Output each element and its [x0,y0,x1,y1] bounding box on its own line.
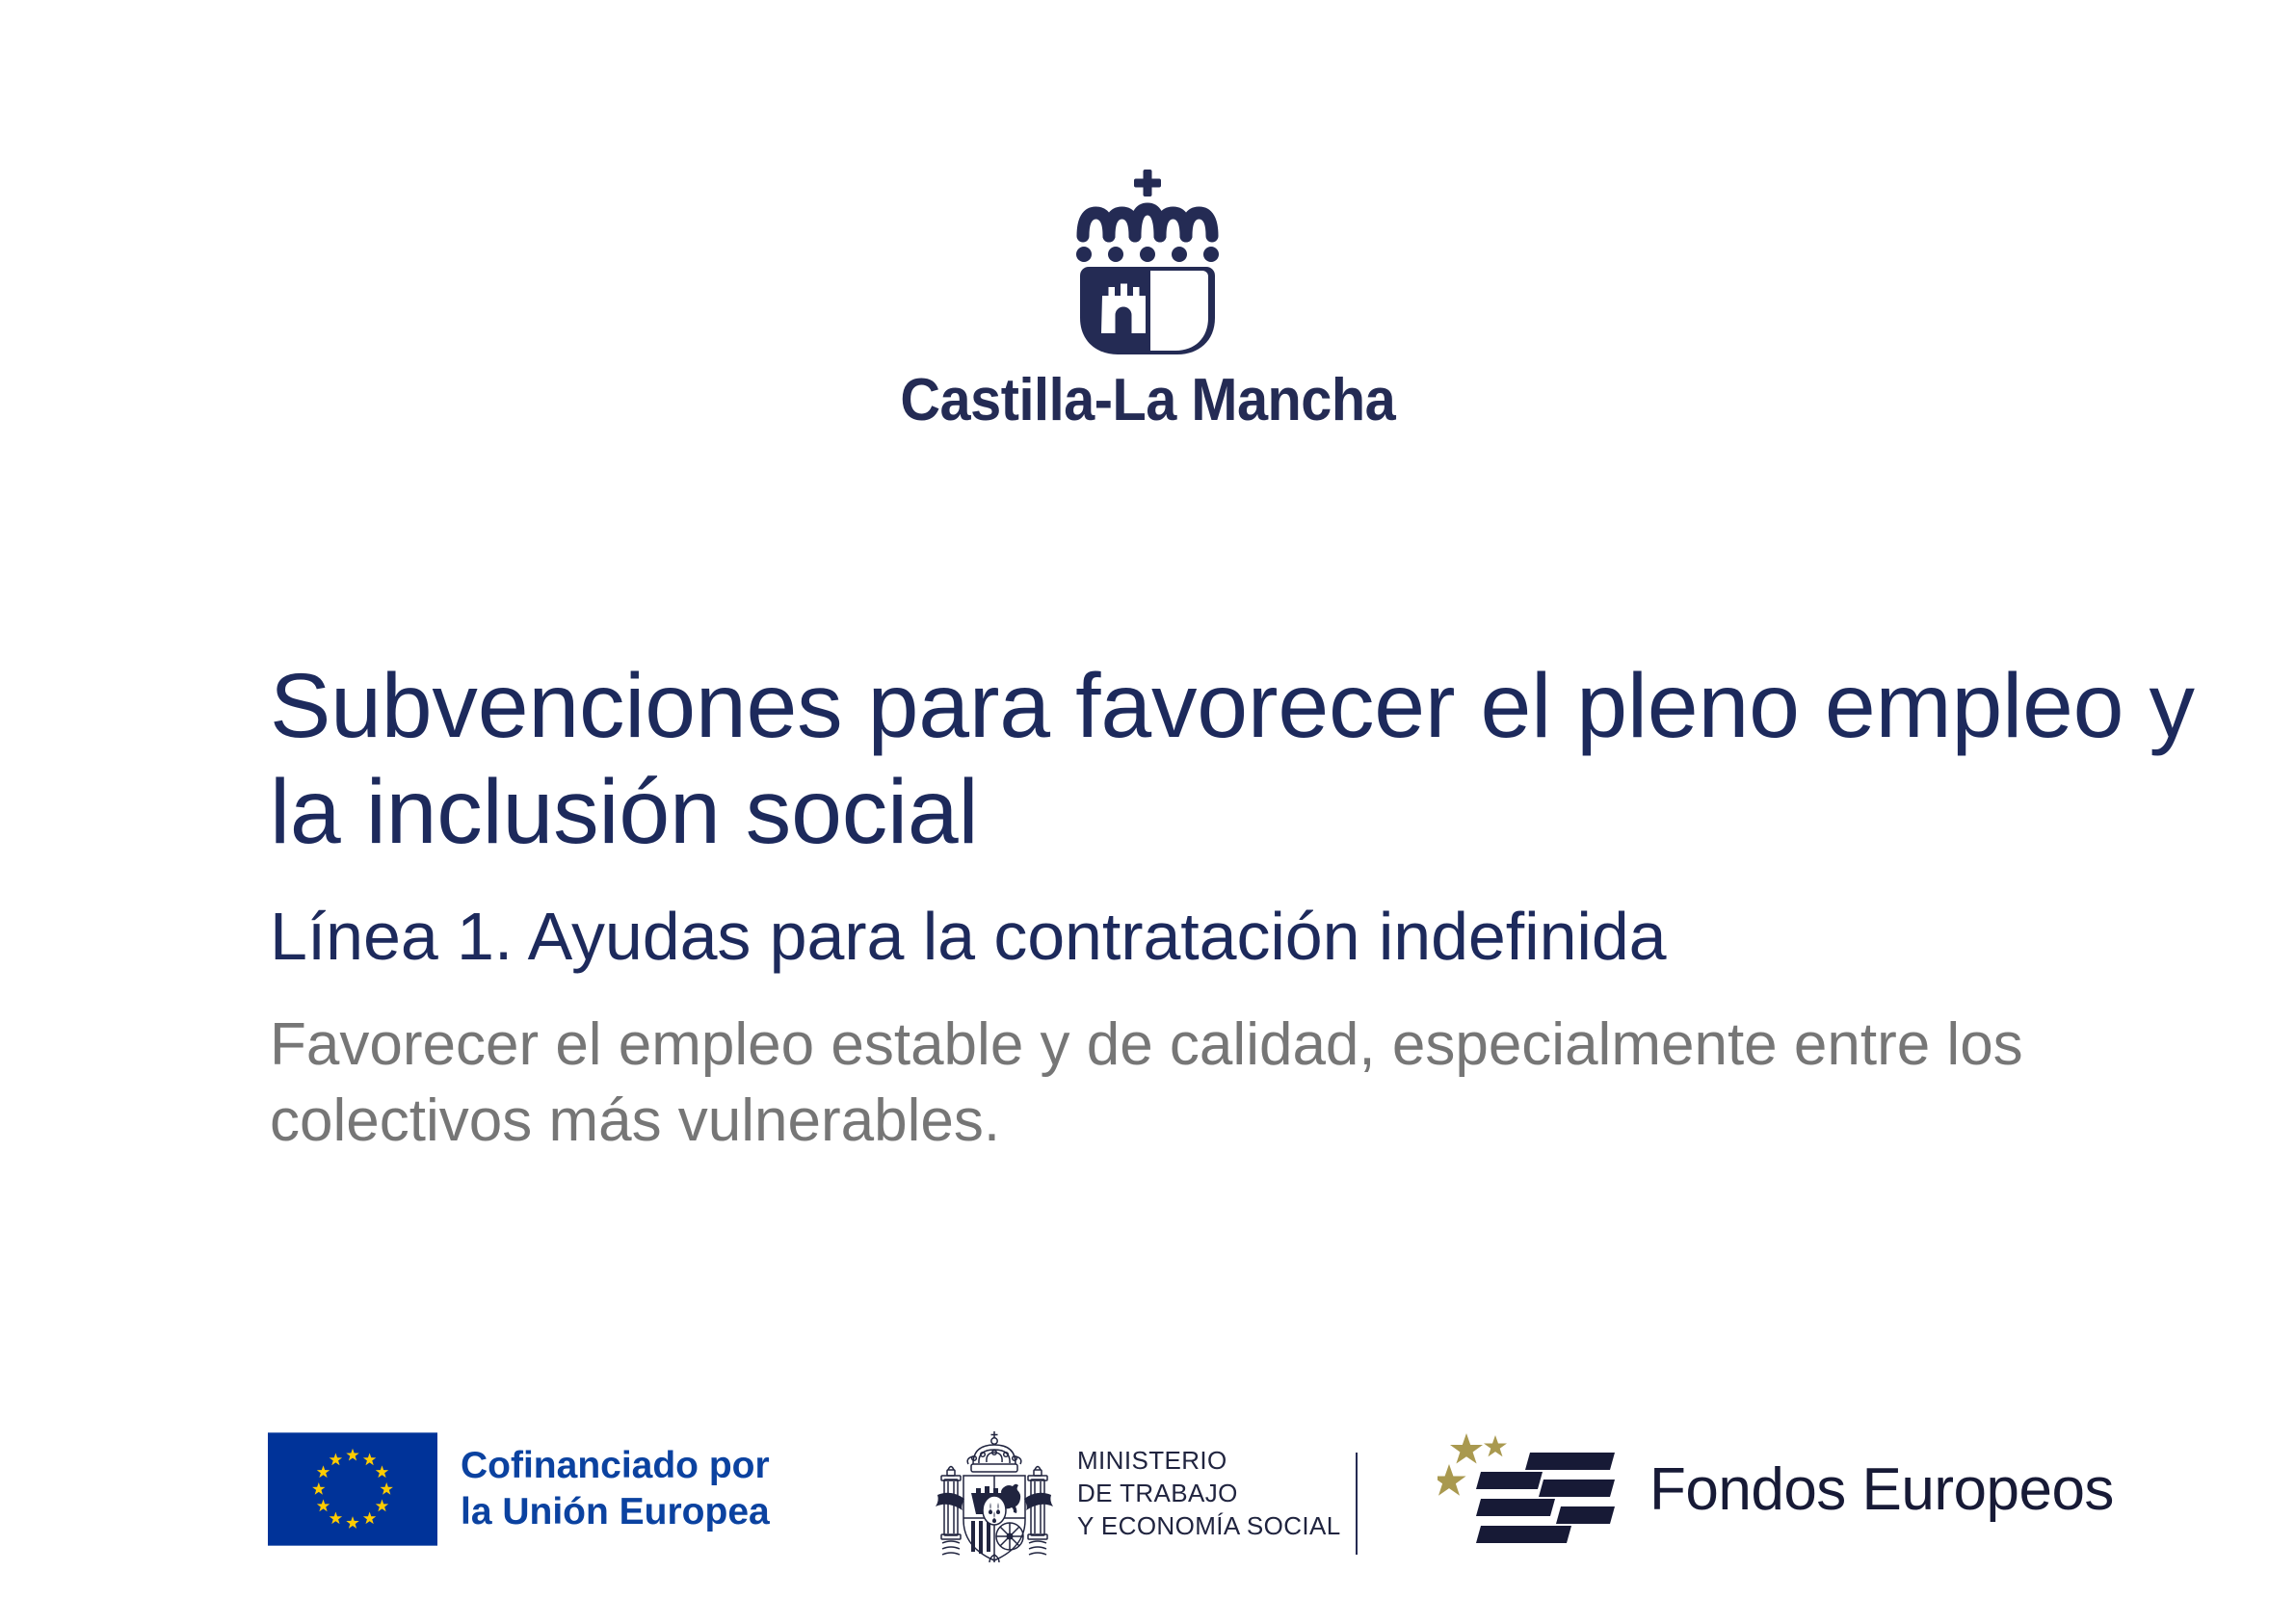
ministerio-label: MINISTERIO DE TRABAJO Y ECONOMÍA SOCIAL [1077,1445,1341,1542]
european-union-flag-icon [268,1431,437,1547]
fondos-europeos-logo: Fondos Europeos [1438,1429,2114,1551]
fondos-europeos-stairs-mark-icon [1438,1429,1621,1551]
footer-logo-strip: Cofinanciado por la Unión Europea [0,1418,2295,1591]
castilla-la-mancha-logo: Castilla-La Mancha [0,170,2295,431]
page-title: Subvenciones para favorecer el pleno emp… [270,653,2206,865]
footer-divider [1356,1453,1358,1555]
castilla-la-mancha-shield-crown-icon [1051,170,1244,357]
castilla-la-mancha-wordmark: Castilla-La Mancha [900,371,1395,431]
eu-cofunded-label: Cofinanciado por la Unión Europea [461,1443,770,1534]
ministerio-logo: MINISTERIO DE TRABAJO Y ECONOMÍA SOCIAL [933,1426,1341,1562]
eu-cofunded-logo: Cofinanciado por la Unión Europea [268,1431,770,1547]
spain-coat-of-arms-icon [933,1426,1056,1562]
fondos-europeos-label: Fondos Europeos [1649,1460,2114,1520]
page-lead-paragraph: Favorecer el empleo estable y de calidad… [270,1007,2206,1160]
page-subtitle: Línea 1. Ayudas para la contratación ind… [270,898,2216,976]
content-block: Subvenciones para favorecer el pleno emp… [270,653,2216,1160]
